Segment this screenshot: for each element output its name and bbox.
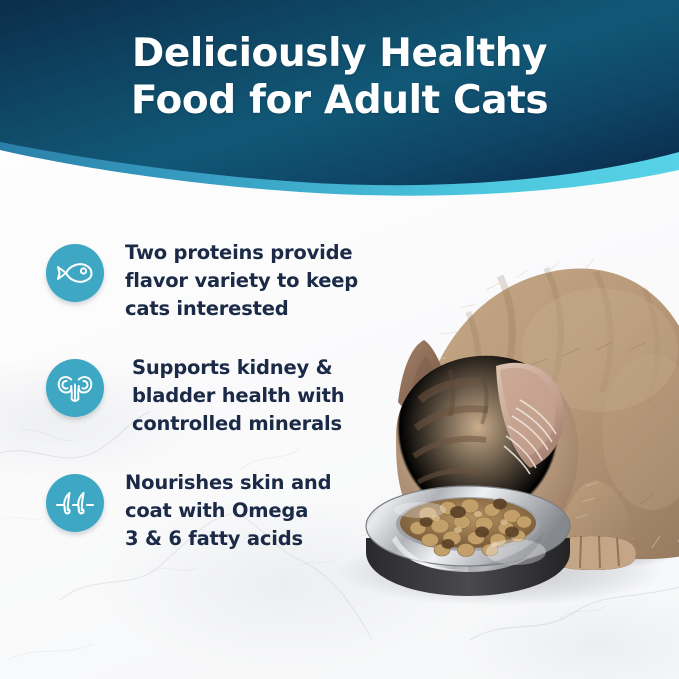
infographic-canvas: Deliciously Healthy Food for Adult Cats … bbox=[0, 0, 679, 679]
feature-item-proteins: Two proteins provide flavor variety to k… bbox=[46, 236, 386, 336]
header-banner: Deliciously Healthy Food for Adult Cats bbox=[0, 0, 679, 200]
feature-item-omega: Nourishes skin and coat with Omega 3 & 6… bbox=[46, 466, 386, 566]
fish-icon bbox=[46, 244, 104, 302]
kidney-icon bbox=[46, 359, 104, 417]
hair-follicle-icon bbox=[46, 474, 104, 532]
feature-item-kidney: Supports kidney & bladder health with co… bbox=[46, 351, 386, 451]
page-title: Deliciously Healthy Food for Adult Cats bbox=[0, 30, 679, 124]
feature-text-kidney: Supports kidney & bladder health with co… bbox=[132, 351, 386, 438]
feature-text-omega: Nourishes skin and coat with Omega 3 & 6… bbox=[125, 466, 386, 553]
feature-list: Two proteins provide flavor variety to k… bbox=[46, 236, 386, 581]
feature-text-proteins: Two proteins provide flavor variety to k… bbox=[125, 236, 386, 323]
